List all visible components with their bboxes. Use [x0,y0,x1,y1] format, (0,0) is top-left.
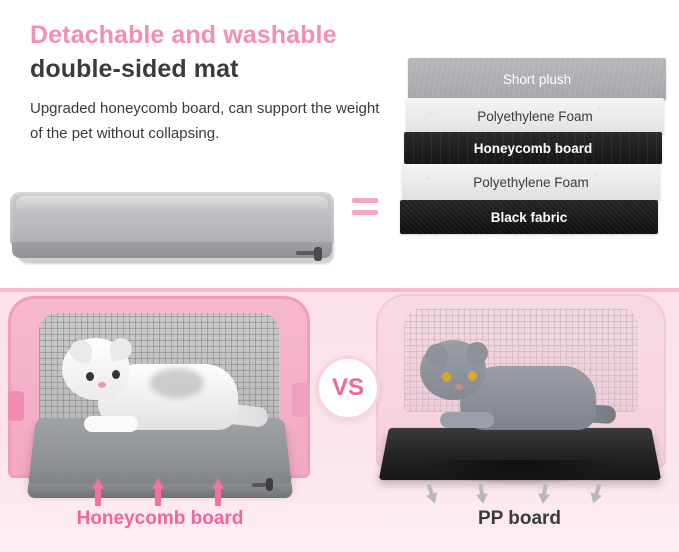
caption-honeycomb-board: Honeycomb board [0,508,320,530]
arrow-down-icon [421,482,443,508]
layer-short-plush: Short plush [408,58,666,100]
arrow-head [588,492,603,505]
cat-eye-right [112,370,120,379]
page-title: Detachable and washable double-sided mat [30,18,450,86]
mat-edge [12,242,332,258]
subtitle-text: Upgraded honeycomb board, can support th… [30,96,395,146]
pp-board-scene: PP board [360,292,679,552]
grey-cat [414,326,614,442]
arrow-stem [155,488,161,506]
cat-ear-left [68,338,93,363]
equals-bar-top [352,198,378,203]
cat-head [420,340,486,400]
pp-board-sag-shadow [424,460,614,486]
cat-head [62,338,130,400]
infographic-page: Detachable and washable double-sided mat… [0,0,679,552]
cat-ear-right [465,341,490,366]
arrow-stem [95,488,101,506]
arrow-down-icon [473,483,492,507]
arrow-down-icon [585,482,607,508]
carrier-strap-right [292,383,310,417]
arrow-up-icon [92,478,104,506]
layer-stack-diagram: Short plush Polyethylene Foam Honeycomb … [398,58,666,268]
zipper-icon [296,244,330,260]
layer-label: Polyethylene Foam [477,109,593,124]
support-arrows [86,478,246,512]
top-panel: Detachable and washable double-sided mat… [0,0,679,288]
headline-line-1: Detachable and washable [30,18,450,52]
comparison-panel: Honeycomb board VS [0,292,679,552]
layer-polyethylene-foam-upper: Polyethylene Foam [406,98,664,134]
cat-ear-left [424,342,450,368]
arrow-stem [215,488,221,506]
zipper-icon [252,478,282,492]
headline-line-2: double-sided mat [30,52,450,86]
mat-illustration [10,186,340,276]
carrier-strap-left [8,391,24,421]
zipper-pull [266,478,273,491]
layer-label: Honeycomb board [474,141,593,156]
cat-fur-marking [150,368,204,398]
equals-icon [352,198,378,220]
white-cat [54,328,268,438]
cat-paws [440,412,494,428]
arrow-head [426,492,441,505]
cat-nose [455,384,463,390]
vs-badge: VS [316,356,380,420]
arrow-up-icon [212,478,224,506]
equals-bar-bottom [352,210,378,215]
arrow-down-icon [535,483,554,507]
layer-black-fabric: Black fabric [400,200,658,234]
mat-surface [10,192,334,248]
zipper-pull [314,247,322,261]
layer-honeycomb-board: Honeycomb board [404,132,662,164]
cat-eye-left [442,372,451,382]
layer-label: Polyethylene Foam [473,175,589,190]
arrow-head [537,493,550,505]
cat-ear-right [108,336,133,361]
layer-polyethylene-foam-lower: Polyethylene Foam [402,164,660,200]
layer-label: Short plush [503,72,571,87]
collapse-arrows [424,484,614,510]
layer-label: Black fabric [491,210,568,225]
arrow-head [476,493,489,505]
arrow-up-icon [152,478,164,506]
cat-eye-right [468,371,477,381]
cat-paws [84,416,138,432]
cat-nose [98,382,106,388]
cat-eye-left [86,372,94,381]
caption-pp-board: PP board [360,508,679,530]
honeycomb-board-scene: Honeycomb board [0,292,320,552]
